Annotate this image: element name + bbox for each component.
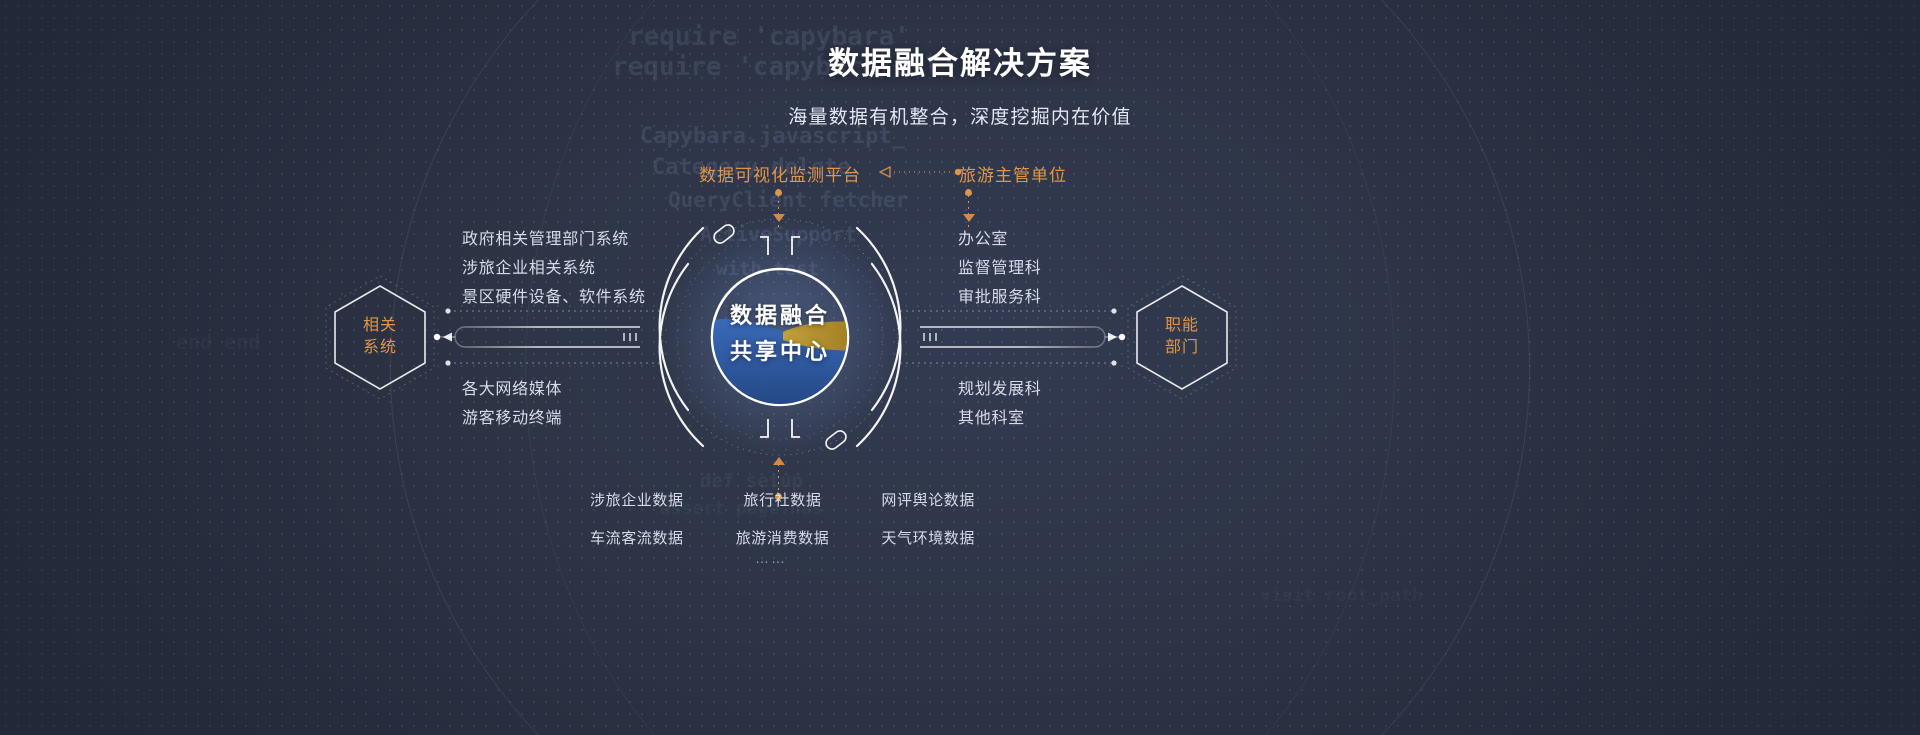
hexagon-left-label: 相关 系统 [325, 281, 435, 393]
right-item-3[interactable]: 规划发展科 [958, 375, 1042, 399]
core-label-line1: 数据融合 [660, 298, 900, 330]
left-item-1[interactable]: 涉旅企业相关系统 [462, 254, 596, 278]
connector-dotted-line [968, 195, 969, 227]
hexagon-left[interactable]: 相关 系统 [325, 281, 435, 393]
bottom-cell-0-1[interactable]: 旅行社数据 [725, 489, 840, 510]
bottom-cell-0-2[interactable]: 网评舆论数据 [855, 489, 975, 510]
header: 数据融合解决方案 海量数据有机整合，深度挖掘内在价值 [0, 0, 1920, 129]
right-item-0[interactable]: 办公室 [958, 225, 1008, 249]
hexagon-left-line1: 相关 [363, 315, 397, 337]
bottom-data-row: 车流客流数据 旅游消费数据 天气环境数据 [590, 527, 975, 548]
bottom-cell-1-1[interactable]: 旅游消费数据 [725, 527, 840, 548]
top-connector-arrow [868, 164, 962, 180]
left-item-3[interactable]: 各大网络媒体 [462, 375, 562, 399]
right-item-4[interactable]: 其他科室 [958, 404, 1025, 428]
label-tourism-authority[interactable]: 旅游主管单位 [959, 161, 1067, 186]
connector-arrow-down [963, 214, 975, 222]
hexagon-right-line2: 部门 [1165, 337, 1199, 359]
right-item-2[interactable]: 审批服务科 [958, 283, 1042, 307]
left-item-2[interactable]: 景区硬件设备、软件系统 [462, 283, 646, 307]
hexagon-right-label: 职能 部门 [1127, 281, 1237, 393]
bottom-cell-0-0[interactable]: 涉旅企业数据 [590, 489, 710, 510]
right-item-1[interactable]: 监督管理科 [958, 254, 1042, 278]
page-subtitle: 海量数据有机整合，深度挖掘内在价值 [0, 102, 1920, 129]
bottom-ellipsis: …… [755, 550, 787, 566]
bottom-cell-1-0[interactable]: 车流客流数据 [590, 527, 710, 548]
page-title: 数据融合解决方案 [0, 38, 1920, 83]
core-label: 数据融合 共享中心 [660, 298, 900, 366]
hexagon-right-line1: 职能 [1165, 315, 1199, 337]
drop-connector-visualization [772, 189, 786, 221]
connector-arrow-down [773, 214, 785, 222]
connector-arrow-up [773, 457, 785, 465]
core-label-line2: 共享中心 [660, 334, 900, 366]
hexagon-right[interactable]: 职能 部门 [1127, 281, 1237, 393]
core-node: 数据融合 共享中心 [660, 190, 900, 480]
drop-connector-authority [962, 189, 976, 221]
hexagon-left-line2: 系统 [363, 337, 397, 359]
label-visualization-platform[interactable]: 数据可视化监测平台 [699, 161, 861, 186]
left-item-0[interactable]: 政府相关管理部门系统 [462, 225, 629, 249]
left-item-4[interactable]: 游客移动终端 [462, 404, 562, 428]
bottom-cell-1-2[interactable]: 天气环境数据 [855, 527, 975, 548]
bottom-data-row: 涉旅企业数据 旅行社数据 网评舆论数据 [590, 489, 975, 510]
connector-dotted-line [778, 195, 779, 227]
